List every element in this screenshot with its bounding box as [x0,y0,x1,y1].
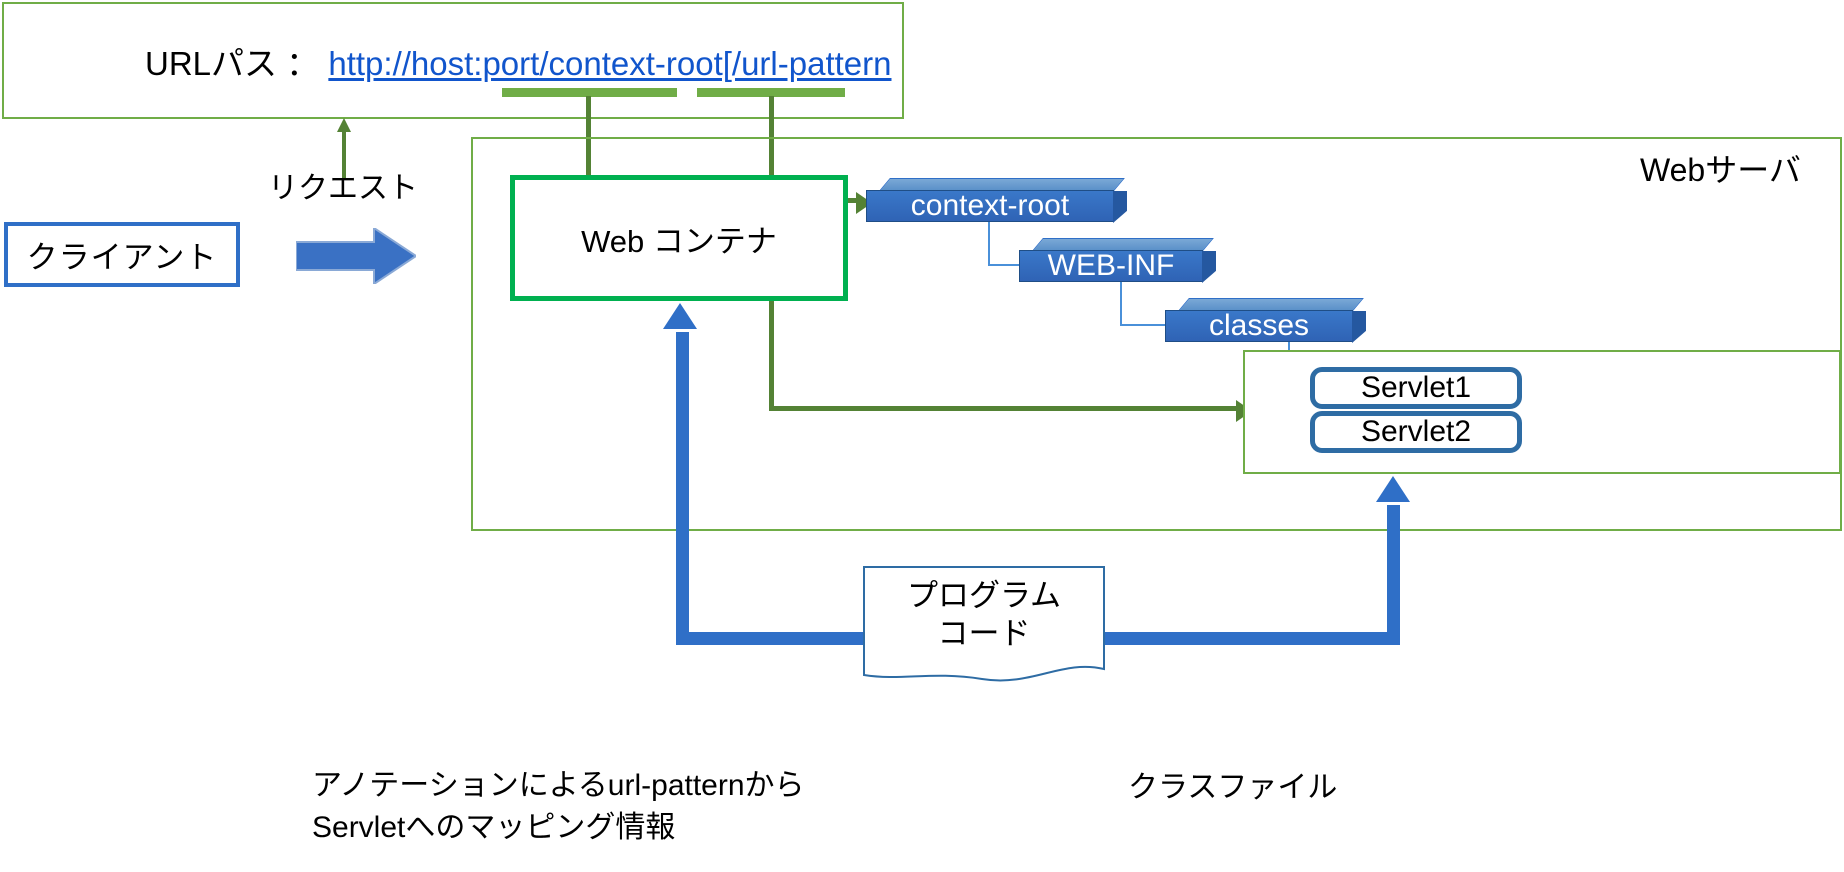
annotation-mapping-caption: アノテーションによるurl-patternから Servletへのマッピング情報 [312,765,872,849]
folder-classes-front: classes [1165,310,1353,342]
servlet2-label: Servlet2 [1361,415,1471,449]
program-code-line2: コード [938,615,1031,653]
annotation-mapping-caption-line2: Servletへのマッピング情報 [312,807,872,849]
client-request-arrow-icon [296,228,416,284]
web-server-label: Webサーバ [1640,148,1844,192]
folder-web-inf-label: WEB-INF [1048,249,1175,283]
folder-context-root-front: context-root [866,190,1114,222]
folder-context-root[interactable]: context-root [866,178,1114,220]
folder-connector-webinf-horizontal [1120,324,1167,326]
servlet2-box[interactable]: Servlet2 [1310,411,1522,453]
url-path-link[interactable]: http://host:port/context-root[/url-patte… [328,45,891,82]
classfile-arrow-head [1376,476,1410,502]
request-label: リクエスト [268,168,438,210]
servlet1-box[interactable]: Servlet1 [1310,367,1522,409]
folder-classes[interactable]: classes [1165,298,1353,340]
annotation-arrow-head [663,303,697,329]
url-path-label: URLパス ： [145,45,328,82]
annotation-line-vertical [676,332,689,638]
classfile-line-vertical [1387,505,1400,639]
classfile-line-horizontal [1090,632,1400,645]
folder-web-inf-front: WEB-INF [1019,250,1203,282]
url-path-text: URLパス ： http://host:port/context-root[/u… [145,40,905,88]
class-file-caption: クラスファイル [1128,767,1428,809]
folder-connector-webinf-vertical [1120,280,1122,326]
web-container-label: Web コンテナ [510,175,848,301]
annotation-mapping-caption-line1: アノテーションによるurl-patternから [312,765,872,807]
folder-classes-label: classes [1209,309,1309,343]
folder-web-inf[interactable]: WEB-INF [1019,238,1203,280]
program-code-line1: プログラム [907,577,1061,615]
folder-connector-context-horizontal [988,264,1021,266]
client-label: クライアント [4,222,240,287]
servlet1-label: Servlet1 [1361,371,1471,405]
folder-context-root-label: context-root [911,189,1069,223]
program-code-label: プログラム コード [862,575,1106,655]
annotation-line-horizontal [676,632,874,645]
folder-connector-context-vertical [988,220,990,266]
